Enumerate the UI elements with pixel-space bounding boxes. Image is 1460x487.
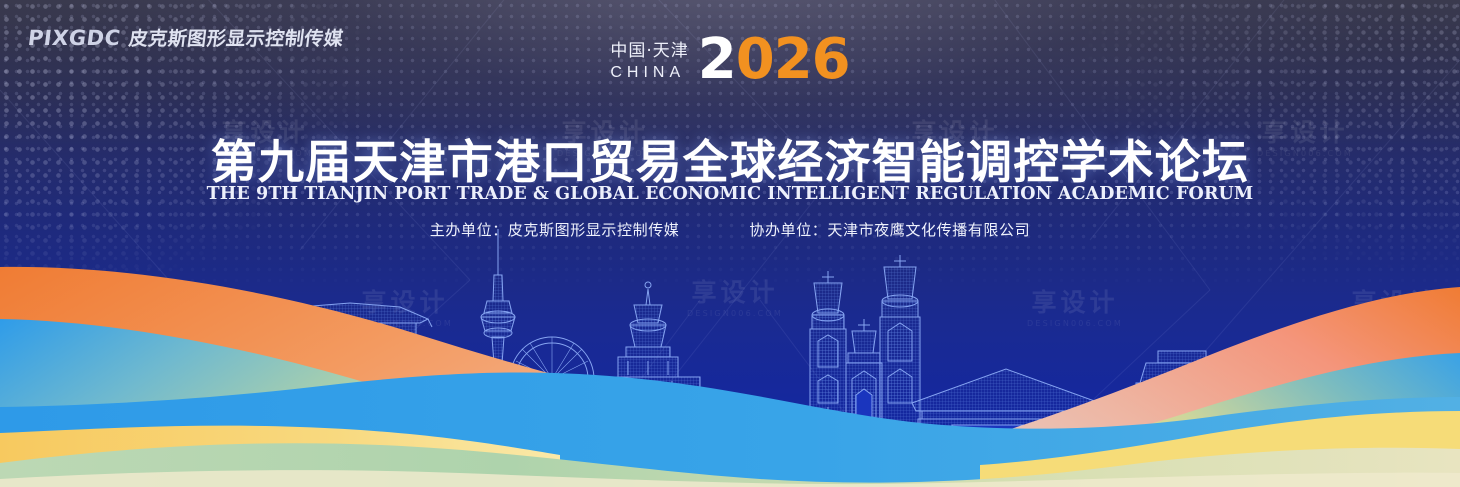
watermark-cn: 享设计 xyxy=(1000,290,1150,315)
watermark-cn: 享设计 xyxy=(660,430,810,455)
brand-logo: PIXGDC 皮克斯图形显示控制传媒 xyxy=(28,24,344,51)
landmark-west-station xyxy=(880,369,1128,487)
landmark-right-blocks xyxy=(1344,419,1440,487)
brand-mark-text: PIXGDC xyxy=(27,26,122,50)
organizer-row: 主办单位：皮克斯图形显示控制传媒 协办单位：天津市夜鹰文化传播有限公司 xyxy=(430,219,1030,240)
host-organizer: 主办单位：皮克斯图形显示控制传媒 xyxy=(430,219,680,240)
landmark-left-wall xyxy=(100,427,400,487)
watermark-cn: 享设计 xyxy=(330,430,480,455)
landmark-ferris-wheel xyxy=(510,337,594,441)
watermark-en: DESIGN006.COM xyxy=(18,320,168,328)
year-digit-white: 2 xyxy=(698,27,736,92)
brand-cn-text: 皮克斯图形显示控制传媒 xyxy=(128,24,346,51)
poster-canvas: 享设计 DESIGN006.COM 享设计 DESIGN006.COM 享设计 … xyxy=(0,0,1460,487)
wave-yellow-left xyxy=(0,426,560,487)
co-host-organizer: 协办单位：天津市夜鹰文化传播有限公司 xyxy=(749,219,1030,240)
watermark-en: DESIGN006.COM xyxy=(1000,460,1150,468)
watermark-en: DESIGN006.COM xyxy=(1320,320,1460,328)
year-digits-orange: 026 xyxy=(736,27,850,92)
watermark-en: DESIGN006.COM xyxy=(660,460,810,468)
tianjin-skyline-illustration xyxy=(0,227,1460,487)
watermark-cn: 享设计 xyxy=(1000,430,1150,455)
location-en: CHINA xyxy=(610,63,688,84)
wave-cyan-ridge xyxy=(0,372,1460,487)
watermark-en: DESIGN006.COM xyxy=(18,460,168,468)
location-cn: 中国·天津 xyxy=(610,41,688,62)
wave-orange-left xyxy=(0,267,980,487)
landmark-temple xyxy=(0,355,108,443)
watermark-en: DESIGN006.COM xyxy=(1230,150,1380,158)
watermark-cn: 享设计 xyxy=(18,290,168,315)
year-number: 2026 xyxy=(698,34,850,86)
watermark-cn: 享设计 xyxy=(1320,290,1460,315)
watermark-cn: 享设计 xyxy=(1230,120,1380,145)
watermark-cn: 享设计 xyxy=(18,430,168,455)
page-title: 第九届天津市港口贸易全球经济智能调控学术论坛 xyxy=(211,126,1249,192)
wave-blue-yellow-left xyxy=(0,319,840,487)
wave-blue-yellow-right xyxy=(900,353,1460,487)
landmark-radial-dome xyxy=(1244,363,1336,487)
landmark-dome-building xyxy=(570,282,730,441)
watermark-en: DESIGN006.COM xyxy=(660,310,810,318)
page-subtitle: THE 9TH TIANJIN PORT TRADE & GLOBAL ECON… xyxy=(207,184,1254,204)
wave-orange-right xyxy=(930,287,1460,487)
wave-pale-green xyxy=(0,443,1460,487)
wave-decoration xyxy=(0,257,1460,487)
watermark-cn: 享设计 xyxy=(660,280,810,305)
watermark-en: DESIGN006.COM xyxy=(330,460,480,468)
watermark-en: DESIGN006.COM xyxy=(1000,320,1150,328)
wave-yellow-right xyxy=(980,411,1460,487)
landmark-tv-tower xyxy=(481,229,515,441)
wave-cream-foreground xyxy=(0,470,1460,487)
landmark-cathedral xyxy=(810,255,920,441)
watermark-en: DESIGN006.COM xyxy=(330,320,480,328)
landmark-museum xyxy=(1120,351,1244,487)
location-labels: 中国·天津 CHINA xyxy=(610,41,688,85)
watermark-cn: 享设计 xyxy=(330,290,480,315)
landmark-gate xyxy=(268,303,432,429)
year-block: 中国·天津 CHINA 2026 xyxy=(610,34,849,86)
